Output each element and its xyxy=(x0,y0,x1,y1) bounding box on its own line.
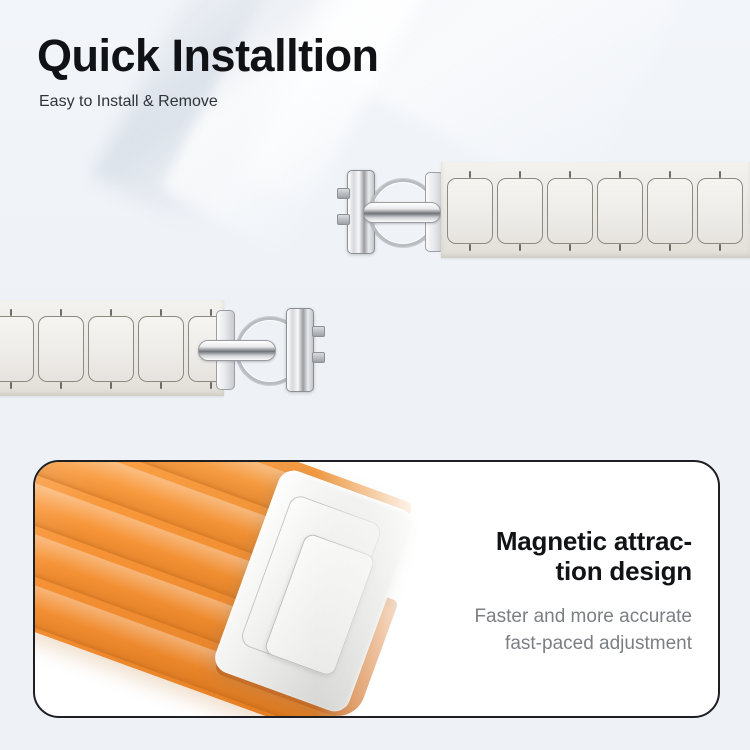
feature-text: Magnetic attrac- tion design Faster and … xyxy=(392,526,692,658)
band-strip-bottom xyxy=(0,300,224,396)
band-strip-top xyxy=(441,162,750,258)
clasp-pin-icon xyxy=(337,188,350,199)
clasp-bar-icon xyxy=(363,202,441,223)
page-subtitle: Easy to Install & Remove xyxy=(39,93,637,111)
header: Quick Installtion Easy to Install & Remo… xyxy=(37,32,637,111)
clasp-plate-icon xyxy=(286,308,314,392)
feature-subtitle: Faster and more accurate fast-paced adju… xyxy=(392,604,692,657)
feature-title-line2: tion design xyxy=(556,556,692,586)
page-title: Quick Installtion xyxy=(37,32,637,79)
product-feature-page: Quick Installtion Easy to Install & Remo… xyxy=(0,0,750,750)
clasp-pin-icon xyxy=(312,352,325,363)
feature-title: Magnetic attrac- tion design xyxy=(392,526,692,586)
feature-title-line1: Magnetic attrac- xyxy=(496,526,692,556)
band-clasp-top xyxy=(345,162,441,258)
feature-sub-line1: Faster and more accurate xyxy=(474,606,692,627)
clasp-pin-icon xyxy=(312,326,325,337)
watch-band-top xyxy=(345,162,750,258)
band-clasp-bottom xyxy=(218,300,314,396)
watch-band-bottom xyxy=(0,300,224,396)
clasp-pin-icon xyxy=(337,214,350,225)
feature-card: Magnetic attrac- tion design Faster and … xyxy=(33,460,720,718)
feature-sub-line2: fast-paced adjustment xyxy=(505,633,692,654)
clasp-bar-icon xyxy=(198,340,276,361)
